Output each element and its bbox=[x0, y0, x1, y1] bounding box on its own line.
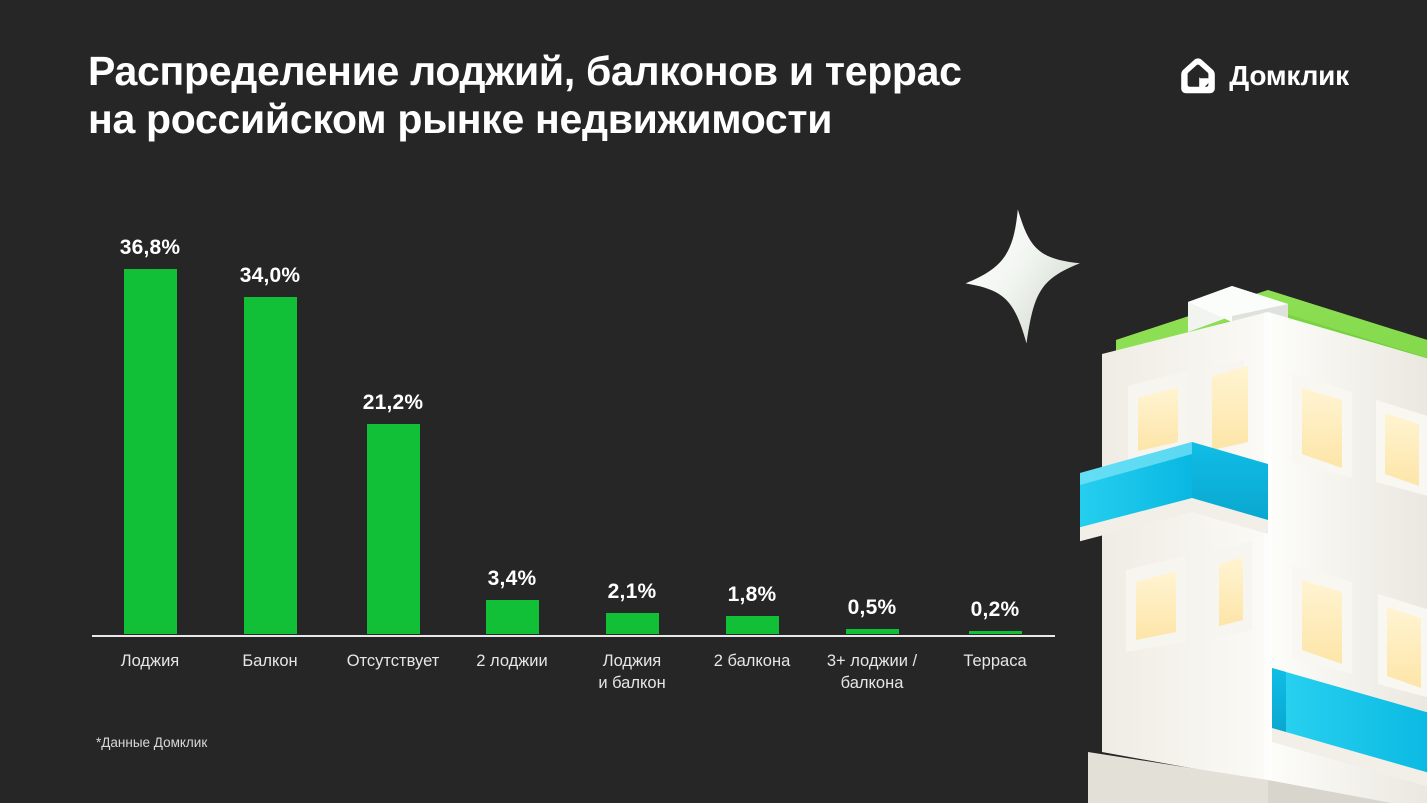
bar-value-label: 36,8% bbox=[120, 236, 181, 260]
brand-logo: Домклик bbox=[1178, 56, 1349, 96]
bar-value-label: 0,2% bbox=[971, 598, 1020, 622]
category-label: Терраса bbox=[915, 650, 1075, 672]
bar-group: 0,5% bbox=[846, 596, 899, 634]
bar bbox=[124, 269, 177, 634]
bar-group: 3,4% bbox=[486, 567, 539, 634]
page-title: Распределение лоджий, балконов и террас … bbox=[88, 48, 1148, 144]
brand-logo-text: Домклик bbox=[1229, 60, 1349, 92]
chart-category-labels: ЛоджияБалконОтсутствует2 лоджииЛоджия и … bbox=[92, 650, 1057, 710]
bar bbox=[726, 616, 779, 634]
bar-value-label: 1,8% bbox=[728, 583, 777, 607]
3d-apartment-building-illustration bbox=[1080, 282, 1427, 803]
bar-group: 21,2% bbox=[367, 391, 420, 634]
bar-value-label: 34,0% bbox=[240, 264, 301, 288]
bar bbox=[969, 631, 1022, 634]
bar bbox=[367, 424, 420, 634]
bar-group: 2,1% bbox=[606, 580, 659, 634]
bar bbox=[606, 613, 659, 634]
bar-value-label: 2,1% bbox=[608, 580, 657, 604]
domclick-house-icon bbox=[1178, 56, 1218, 96]
bar-group: 0,2% bbox=[969, 598, 1022, 634]
chart-footnote: *Данные Домклик bbox=[96, 735, 207, 750]
bar-value-label: 0,5% bbox=[848, 596, 897, 620]
bar-value-label: 3,4% bbox=[488, 567, 537, 591]
chart-plot-area: 36,8%34,0%21,2%3,4%2,1%1,8%0,5%0,2% bbox=[92, 200, 1057, 635]
bar-group: 1,8% bbox=[726, 583, 779, 634]
bar bbox=[846, 629, 899, 634]
bar bbox=[486, 600, 539, 634]
bar bbox=[244, 297, 297, 634]
infographic-canvas: Распределение лоджий, балконов и террас … bbox=[0, 0, 1427, 803]
bar-chart: 36,8%34,0%21,2%3,4%2,1%1,8%0,5%0,2% bbox=[92, 200, 1057, 636]
bar-group: 36,8% bbox=[124, 236, 177, 634]
bar-group: 34,0% bbox=[244, 264, 297, 634]
chart-axis-line bbox=[92, 635, 1055, 637]
bar-value-label: 21,2% bbox=[363, 391, 424, 415]
